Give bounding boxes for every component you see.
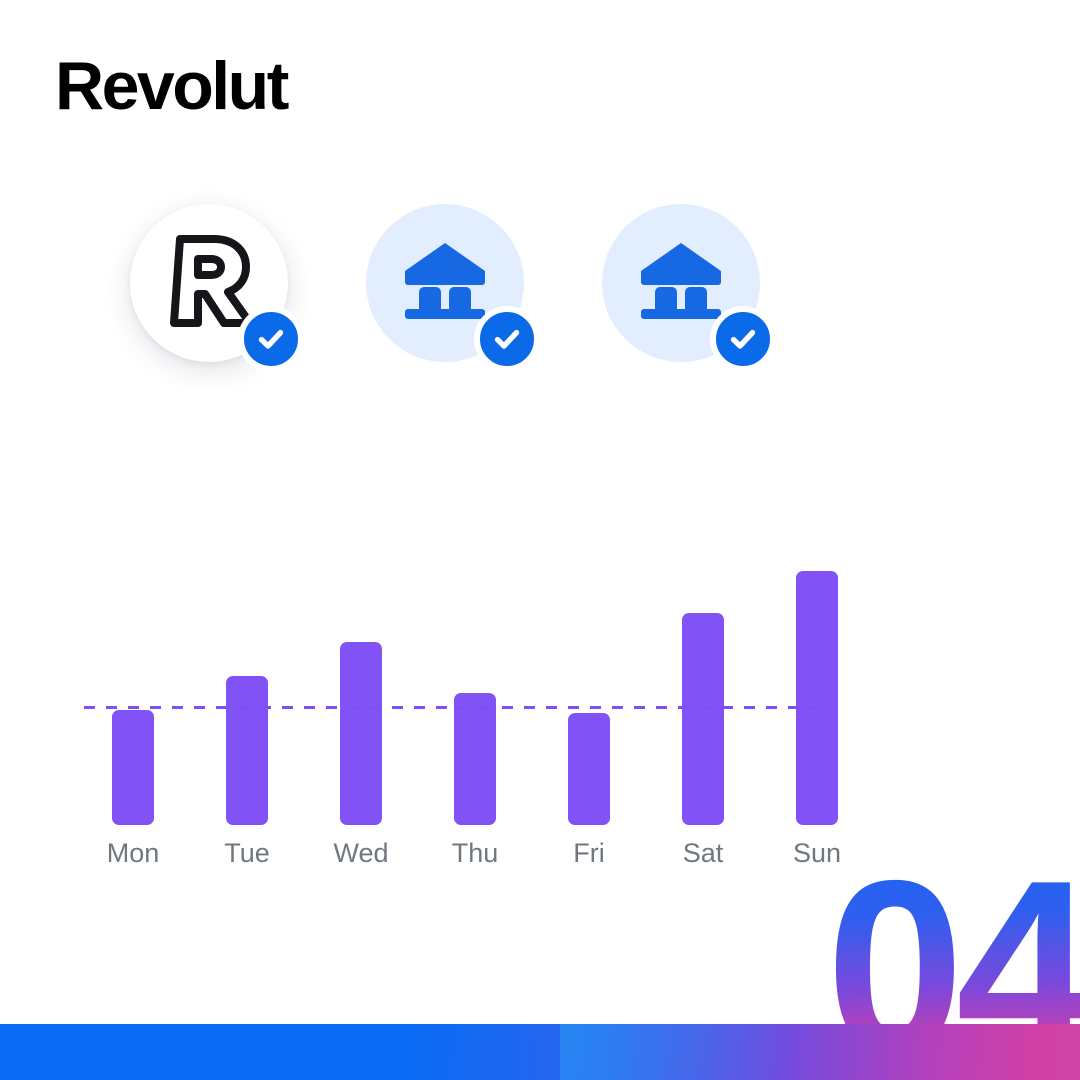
average-reference-line (84, 706, 816, 709)
chart-bar (796, 571, 838, 825)
chart-bar (682, 613, 724, 825)
verified-check-badge (710, 306, 776, 372)
bottom-gradient-band (0, 1024, 1080, 1080)
bank-icon (402, 241, 488, 326)
account-chip-revolut[interactable] (130, 204, 288, 362)
slide-canvas: Revolut (0, 0, 1080, 1080)
chart-plot-area (112, 545, 822, 825)
chart-x-label: Mon (88, 840, 178, 867)
account-chip-bank-2[interactable] (602, 204, 760, 362)
verified-check-badge (238, 306, 304, 372)
connected-accounts-row (130, 204, 760, 362)
chart-x-label: Wed (316, 840, 406, 867)
chart-bar (568, 713, 610, 825)
chart-x-label: Fri (544, 840, 634, 867)
revolut-r-logo-icon (166, 233, 252, 334)
account-chip-bank-1[interactable] (366, 204, 524, 362)
bank-icon (638, 241, 724, 326)
chart-bar (226, 676, 268, 825)
chart-x-label: Sat (658, 840, 748, 867)
chart-x-axis-labels: MonTueWedThuFriSatSun (112, 840, 822, 880)
chart-bar (454, 693, 496, 825)
chart-x-label: Tue (202, 840, 292, 867)
verified-check-badge (474, 306, 540, 372)
chart-bar (340, 642, 382, 825)
chart-bar (112, 710, 154, 825)
band-glow-decoration (560, 1024, 890, 1080)
revolut-wordmark: Revolut (55, 52, 287, 120)
chart-x-label: Thu (430, 840, 520, 867)
